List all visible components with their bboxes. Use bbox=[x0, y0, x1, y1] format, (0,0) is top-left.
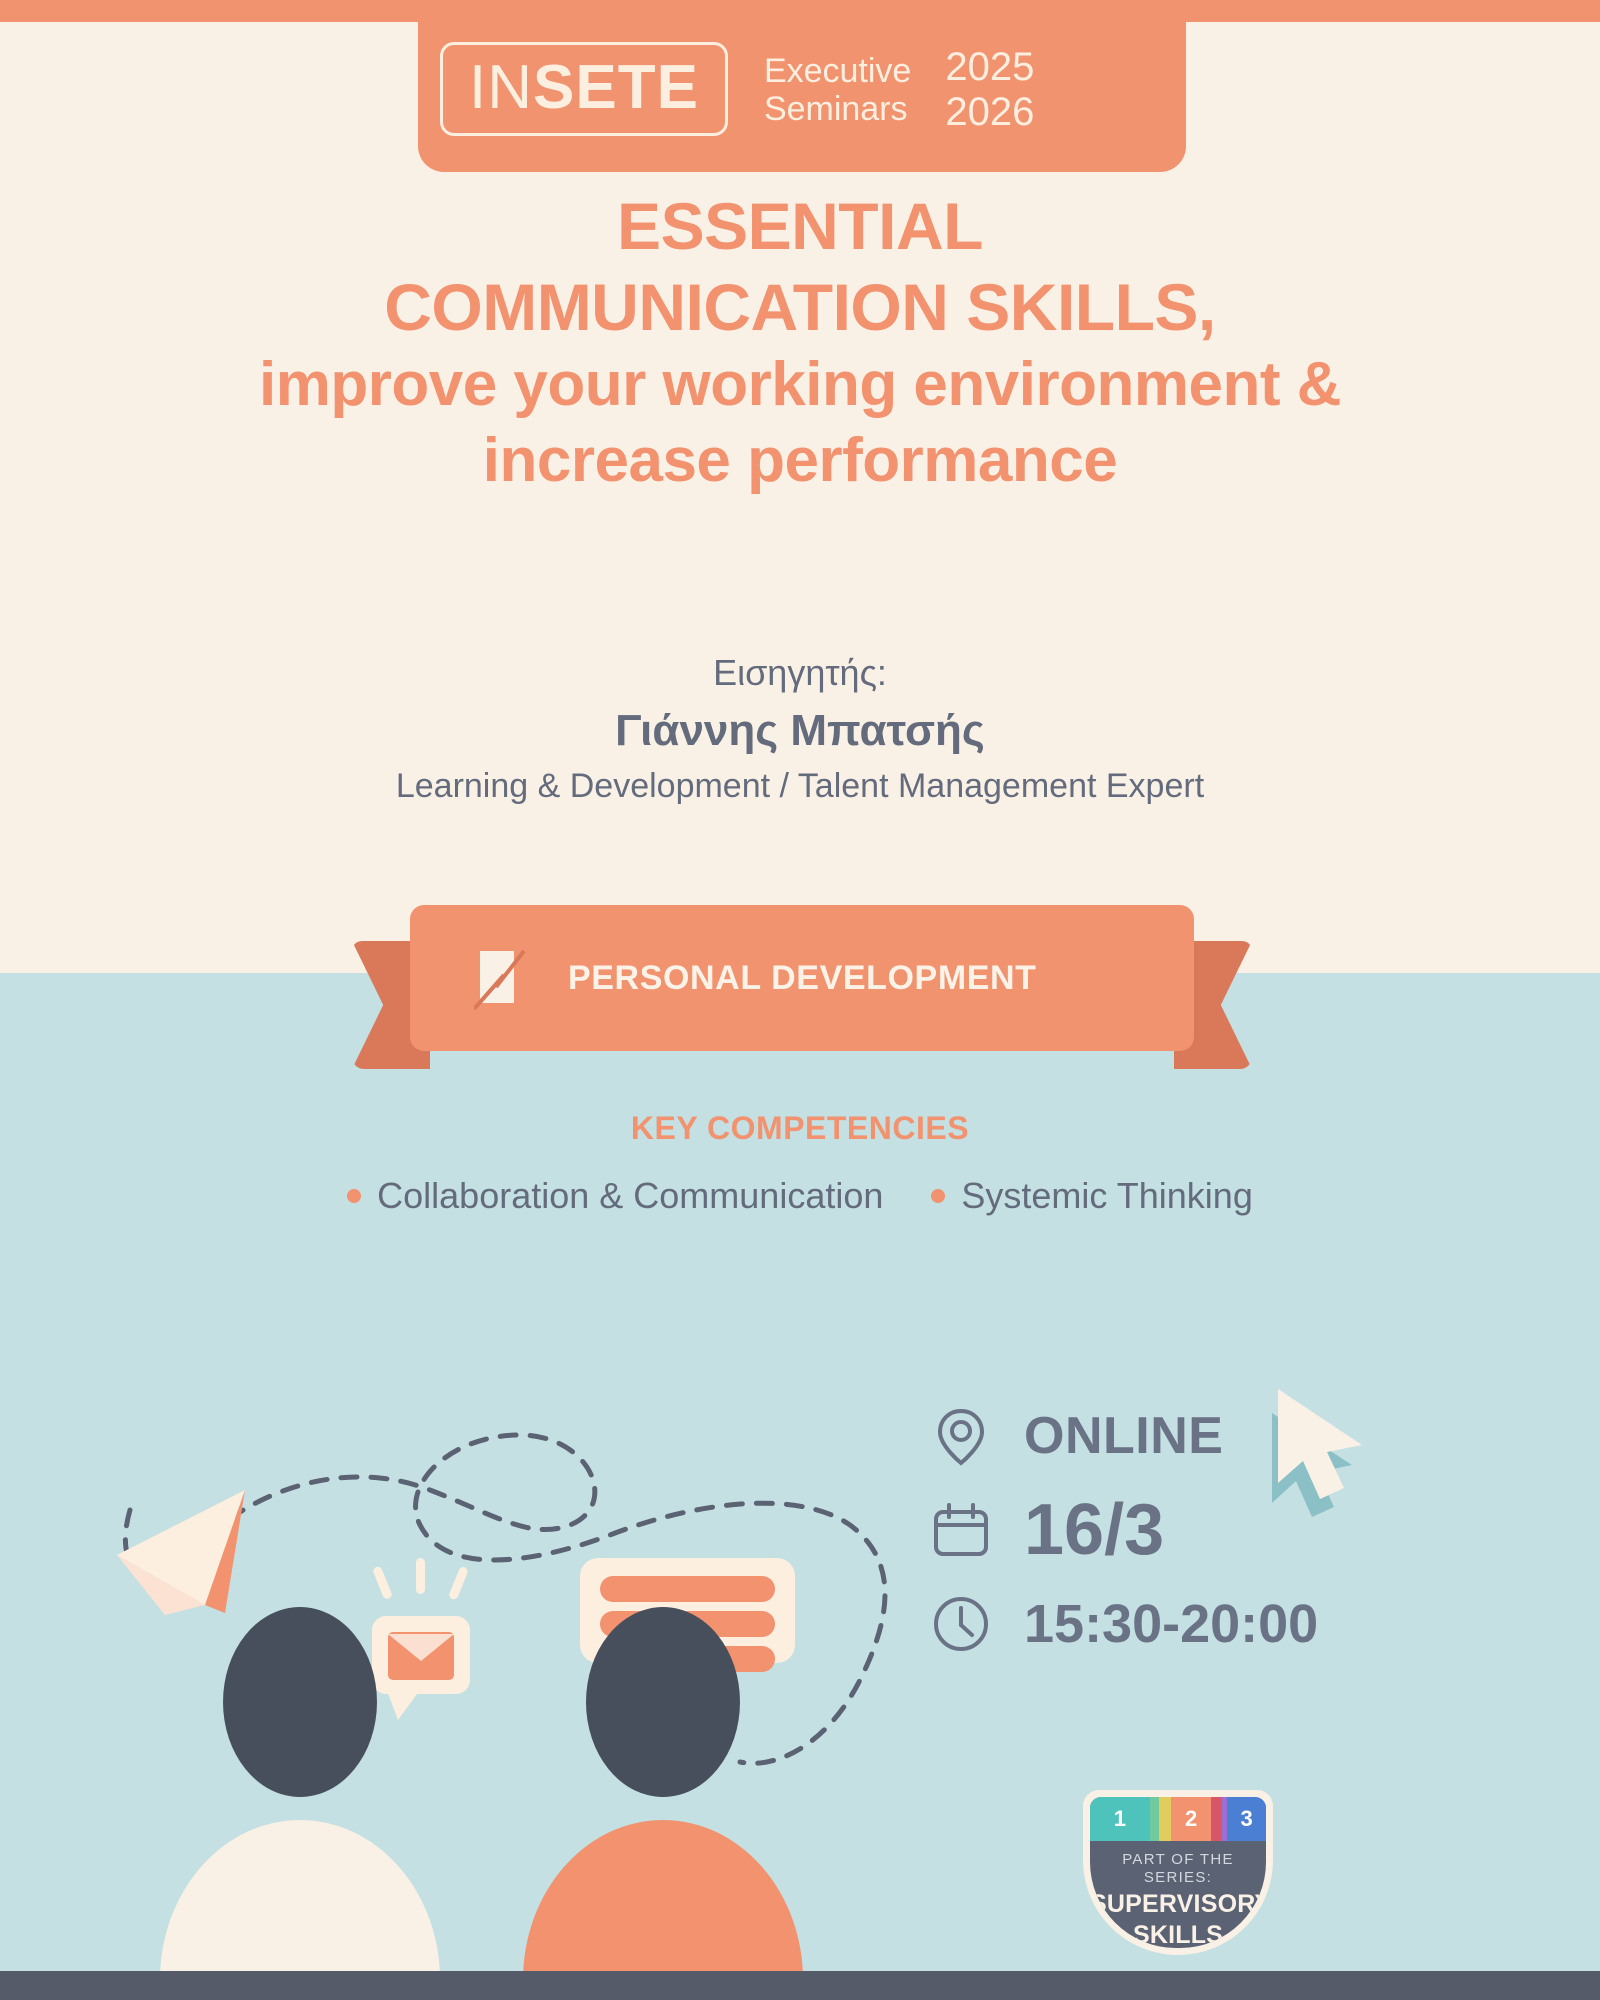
time-value: 15:30-20:00 bbox=[1024, 1593, 1318, 1655]
badge-stripe-2: 2 bbox=[1171, 1797, 1211, 1841]
detail-row-location: ONLINE bbox=[930, 1405, 1318, 1467]
seminar-title: ESSENTIAL COMMUNICATION SKILLS, improve … bbox=[0, 186, 1600, 498]
badge-stripe-1: 1 bbox=[1090, 1797, 1150, 1841]
location-pin-icon bbox=[930, 1405, 992, 1467]
list-item: Systemic Thinking bbox=[931, 1175, 1252, 1217]
program-line-1: Executive bbox=[764, 52, 911, 90]
logo-prefix: IN bbox=[469, 53, 533, 122]
badge-stripe-green bbox=[1150, 1797, 1159, 1841]
ribbon-body: PERSONAL DEVELOPMENT bbox=[410, 905, 1194, 1051]
badge-stripe-3: 3 bbox=[1227, 1797, 1266, 1841]
speaker-block: Εισηγητής: Γιάννης Μπατσής Learning & De… bbox=[0, 650, 1600, 807]
date-value: 16/3 bbox=[1024, 1489, 1164, 1571]
paper-plane-icon bbox=[117, 1490, 245, 1615]
speaker-label: Εισηγητής: bbox=[0, 650, 1600, 697]
bullet-dot-icon bbox=[347, 1189, 361, 1203]
insete-logo-text: INSETE bbox=[469, 57, 699, 119]
badge-stripes: 1 2 3 bbox=[1090, 1797, 1266, 1841]
key-competencies: KEY COMPETENCIES Collaboration & Communi… bbox=[0, 1110, 1600, 1217]
competency-label: Collaboration & Communication bbox=[377, 1175, 883, 1217]
header-left-shoulder bbox=[358, 22, 418, 82]
seminar-poster: INSETE Executive Seminars 2025 2026 ESSE… bbox=[0, 0, 1600, 2000]
title-line-3: improve your working environment & bbox=[0, 347, 1600, 423]
program-info: Executive Seminars 2025 2026 bbox=[764, 45, 1034, 135]
bullet-dot-icon bbox=[931, 1189, 945, 1203]
badge-number-1: 1 bbox=[1114, 1806, 1126, 1832]
detail-row-time: 15:30-20:00 bbox=[930, 1593, 1318, 1655]
ribbon-label: PERSONAL DEVELOPMENT bbox=[568, 959, 1037, 998]
badge-series-name-1: SUPERVISORY bbox=[1090, 1891, 1266, 1918]
series-badge: 1 2 3 PART OF THE SERIES: SUPERVISORY SK… bbox=[1083, 1790, 1273, 1955]
bottom-accent-bar bbox=[0, 1971, 1600, 2000]
event-details: ONLINE 16/3 15:30-20:00 bbox=[930, 1405, 1318, 1655]
category-ribbon: PERSONAL DEVELOPMENT bbox=[352, 905, 1252, 1075]
year-line-1: 2025 bbox=[945, 45, 1034, 90]
insete-logo: INSETE bbox=[440, 42, 728, 136]
list-item: Collaboration & Communication bbox=[347, 1175, 883, 1217]
program-years: 2025 2026 bbox=[945, 45, 1034, 135]
calendar-icon bbox=[930, 1499, 992, 1561]
person-head-left bbox=[223, 1607, 377, 1797]
chart-growth-icon bbox=[474, 945, 526, 1011]
competency-label: Systemic Thinking bbox=[961, 1175, 1252, 1217]
email-bubble-icon bbox=[372, 1558, 470, 1720]
logo-suffix: SETE bbox=[533, 53, 699, 122]
person-body-left bbox=[160, 1820, 440, 1980]
title-line-1: ESSENTIAL bbox=[0, 186, 1600, 267]
year-line-2: 2026 bbox=[945, 90, 1034, 135]
location-value: ONLINE bbox=[1024, 1406, 1223, 1466]
key-competencies-title: KEY COMPETENCIES bbox=[0, 1110, 1600, 1147]
person-head-right bbox=[586, 1607, 740, 1797]
title-line-2: COMMUNICATION SKILLS, bbox=[0, 267, 1600, 348]
badge-stripe-yellow bbox=[1159, 1797, 1171, 1841]
speaker-role: Learning & Development / Talent Manageme… bbox=[0, 765, 1600, 808]
people-communication-illustration bbox=[100, 1380, 920, 1980]
badge-number-3: 3 bbox=[1240, 1806, 1252, 1832]
brand-header: INSETE Executive Seminars 2025 2026 bbox=[418, 0, 1186, 172]
mouse-cursor-icon bbox=[1270, 1385, 1400, 1520]
speaker-name: Γιάννης Μπατσής bbox=[0, 697, 1600, 765]
program-name: Executive Seminars bbox=[764, 52, 911, 128]
clock-icon bbox=[930, 1593, 992, 1655]
person-body-right bbox=[523, 1820, 803, 1980]
badge-number-2: 2 bbox=[1185, 1806, 1197, 1832]
badge-series-label: PART OF THE SERIES: bbox=[1090, 1851, 1266, 1887]
detail-row-date: 16/3 bbox=[930, 1489, 1318, 1571]
title-line-4: increase performance bbox=[0, 423, 1600, 499]
badge-stripe-red bbox=[1211, 1797, 1222, 1841]
key-competencies-list: Collaboration & Communication Systemic T… bbox=[0, 1175, 1600, 1217]
program-line-2: Seminars bbox=[764, 90, 911, 128]
header-right-shoulder bbox=[1186, 22, 1246, 82]
